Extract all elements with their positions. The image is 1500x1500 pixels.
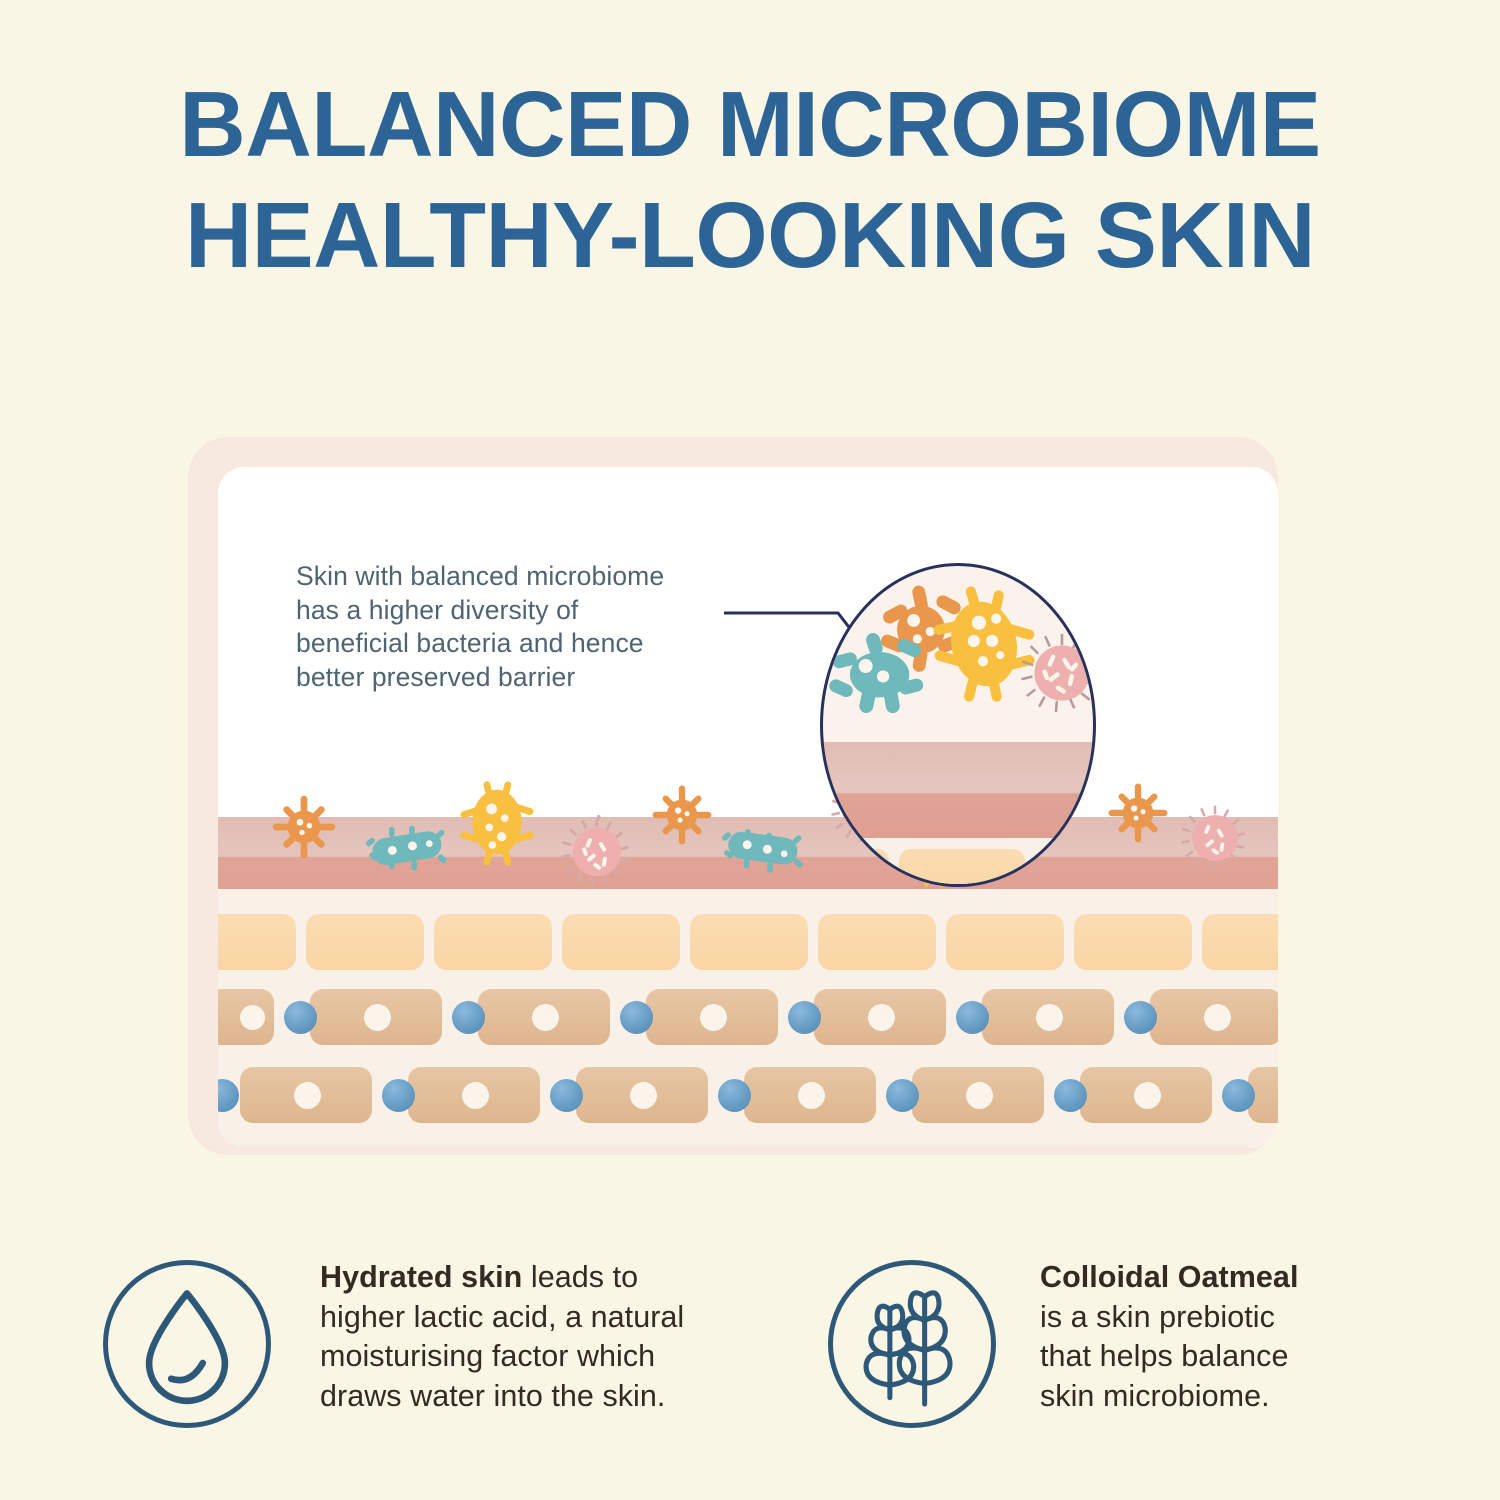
skin-diagram-card-frame: Skin with balanced microbiome has a high… [188,437,1278,1155]
cell-nucleus [966,1082,993,1109]
cell [310,989,442,1045]
cell-nucleus [532,1004,559,1031]
magnified-cell [1035,849,1096,887]
granule-dot [218,1079,239,1112]
cell [818,914,936,970]
cell-nucleus [1134,1082,1161,1109]
microbe-yellow-ovoid [458,772,536,872]
microbe-orange-star [1106,781,1170,845]
water-drop-icon-circle [103,1260,271,1428]
cell [1150,989,1278,1045]
cell-nucleus [462,1082,489,1109]
cell-nucleus [868,1004,895,1031]
feature-line-2: is a skin prebiotic [1040,1298,1298,1338]
headline-line-2: HEALTHY-LOOKING SKIN [0,189,1500,282]
cell-nucleus [1204,1004,1231,1031]
granule-dot [550,1079,583,1112]
granule-dot [452,1001,485,1034]
cell [912,1067,1044,1123]
granule-dot [1222,1079,1255,1112]
granule-dot [284,1001,317,1034]
oat-wheat-icon-circle [828,1260,996,1428]
granule-dot [382,1079,415,1112]
feature-line-4: draws water into the skin. [320,1377,684,1417]
cell-nucleus [700,1004,727,1031]
cell [306,914,424,970]
epidermis-cell-row-bottom [218,1067,1278,1123]
cell [218,989,274,1045]
feature-line-1: Colloidal Oatmeal [1040,1258,1298,1298]
cell [690,914,808,970]
feature-line-2: higher lactic acid, a natural [320,1298,684,1338]
feature-line-3: that helps balance [1040,1337,1298,1377]
microbe-pink-hairy-magnified [1021,632,1096,714]
cell [562,914,680,970]
microbe-teal-rod [718,819,810,875]
page-title: BALANCED MICROBIOME HEALTHY-LOOKING SKIN [0,78,1500,282]
granule-dot [886,1079,919,1112]
feature-colloidal-oatmeal-text: Colloidal Oatmeal is a skin prebiotic th… [1040,1258,1298,1417]
microbe-pink-hairy [560,815,634,889]
cell [946,914,1064,970]
feature-bold-label: Colloidal Oatmeal [1040,1260,1298,1294]
cell-nucleus [294,1082,321,1109]
skin-diagram-card: Skin with balanced microbiome has a high… [218,467,1278,1147]
granule-dot [956,1001,989,1034]
microbe-pink-hairy [1180,803,1250,873]
cell [646,989,778,1045]
cell [814,989,946,1045]
microbe-orange-star [270,793,338,861]
granule-dot [620,1001,653,1034]
cell [434,914,552,970]
cell [1074,914,1192,970]
cell [982,989,1114,1045]
oat-wheat-icon [833,1265,991,1423]
cell-nucleus [630,1082,657,1109]
cell [240,1067,372,1123]
feature-hydrated-skin-text: Hydrated skin leads to higher lactic aci… [320,1258,684,1417]
epidermis-cell-row-mid [218,989,1278,1045]
magnified-barrier-layer [823,742,1096,838]
feature-bold-label: Hydrated skin [320,1260,522,1294]
feature-line-4: skin microbiome. [1040,1377,1298,1417]
epidermis-cell-row-top [218,914,1278,970]
feature-line-1: Hydrated skin leads to [320,1258,684,1298]
cell-nucleus [1036,1004,1063,1031]
feature-line-1-rest: leads to [522,1260,638,1294]
cell [478,989,610,1045]
cell [576,1067,708,1123]
magnifier-circle[interactable] [820,563,1096,887]
cell-nucleus [798,1082,825,1109]
feature-line-3: moisturising factor which [320,1337,684,1377]
magnified-cell [820,849,889,887]
cell [408,1067,540,1123]
microbe-teal-blob-magnified [829,628,925,718]
granule-dot [788,1001,821,1034]
granule-dot [1124,1001,1157,1034]
magnified-cell [899,849,1025,887]
microbe-orange-star [650,783,714,847]
cell-nucleus [364,1004,391,1031]
infographic-page: BALANCED MICROBIOME HEALTHY-LOOKING SKIN… [0,0,1500,1500]
granule-dot [718,1079,751,1112]
headline-line-1: BALANCED MICROBIOME [8,78,1493,171]
cell [744,1067,876,1123]
microbe-teal-rod [362,819,454,875]
cell [1202,914,1278,970]
cell-nucleus [240,1005,265,1030]
cell [1080,1067,1212,1123]
granule-dot [1054,1079,1087,1112]
water-drop-icon [108,1265,266,1423]
cell [218,914,296,970]
